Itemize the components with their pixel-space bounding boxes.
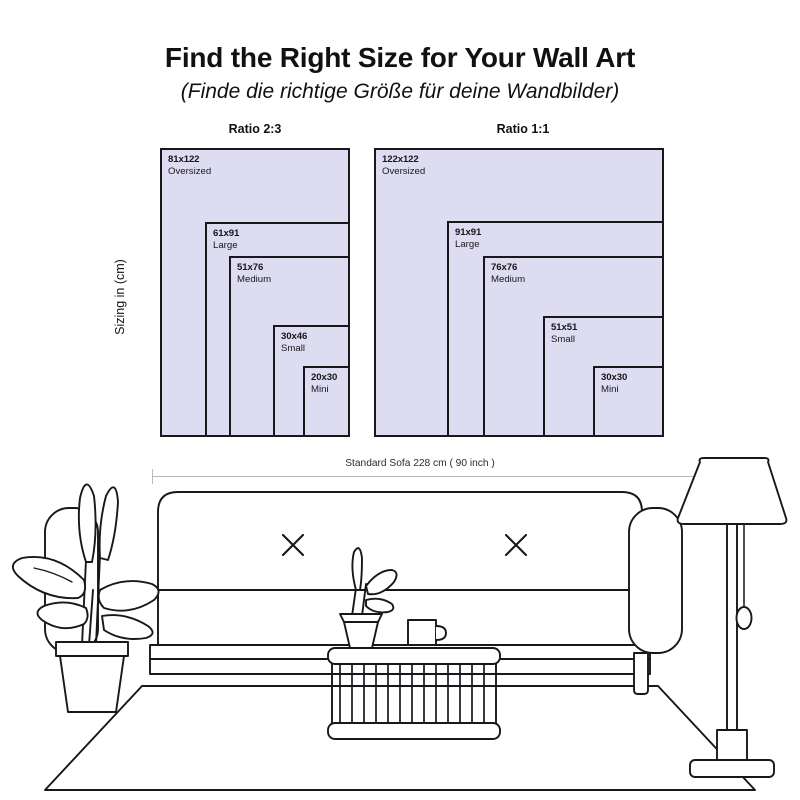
plant-pot-rim (56, 642, 128, 656)
table-top (328, 648, 500, 664)
lamp-base-collar (717, 730, 747, 760)
mug-handle (436, 626, 446, 640)
sofa-armrest-right (629, 508, 682, 653)
size-box-label: 122x122 Oversized (382, 154, 425, 178)
size-box-mini-1-1: 30x30 Mini (593, 366, 664, 437)
sofa-leg-right (634, 653, 648, 694)
size-box-label: 76x76 Medium (491, 262, 525, 286)
infographic-canvas: Find the Right Size for Your Wall Art (F… (0, 0, 800, 800)
living-room-illustration (0, 440, 800, 800)
ratio-heading-2-3: Ratio 2:3 (160, 122, 350, 136)
size-box-label: 30x30 Mini (601, 372, 627, 396)
table-plant-leaf-1 (352, 548, 362, 590)
table-plant-pot-rim (340, 614, 382, 622)
size-box-label: 61x91 Large (213, 228, 239, 252)
size-box-label: 81x122 Oversized (168, 154, 211, 178)
axis-label-sizing: Sizing in (cm) (113, 232, 127, 362)
page-subtitle: (Finde die richtige Größe für deine Wand… (0, 80, 800, 104)
plant-leaf-right-mid (99, 581, 159, 611)
lamp-pull-knob (737, 607, 752, 629)
lamp-shade (678, 458, 787, 524)
size-box-label: 51x51 Small (551, 322, 577, 346)
ratio-heading-1-1: Ratio 1:1 (378, 122, 668, 136)
table-plant-pot-body (344, 622, 378, 648)
size-box-label: 51x76 Medium (237, 262, 271, 286)
size-box-label: 20x30 Mini (311, 372, 337, 396)
size-box-mini-2-3: 20x30 Mini (303, 366, 350, 437)
plant-leaf-right-tall (100, 487, 118, 560)
plant-pot-body (60, 656, 124, 712)
mug-body (408, 620, 436, 645)
sofa-backrest (158, 492, 642, 590)
size-box-label: 91x91 Large (455, 227, 481, 251)
size-box-label: 30x46 Small (281, 331, 307, 355)
page-title: Find the Right Size for Your Wall Art (0, 42, 800, 74)
plant-leaf-right-low (102, 615, 153, 639)
sofa-seat (158, 590, 642, 645)
lamp-pole (727, 524, 737, 730)
lamp-base-plate (690, 760, 774, 777)
table-base (328, 723, 500, 739)
